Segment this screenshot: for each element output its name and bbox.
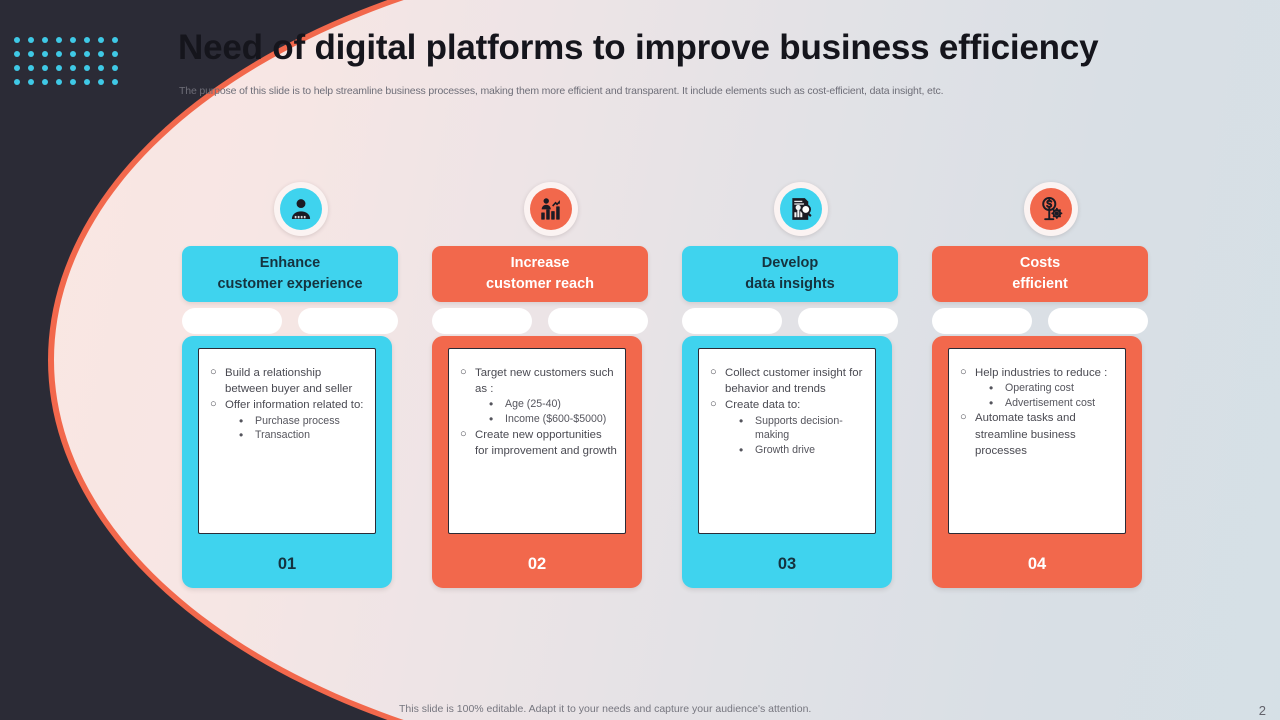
decorative-dot (70, 65, 76, 71)
bullet-item: ○Help industries to reduce :•Operating c… (957, 365, 1117, 410)
bullet-list: ○Help industries to reduce :•Operating c… (957, 365, 1117, 459)
bullet-item: ○Create data to:•Supports decision-makin… (707, 397, 867, 457)
column-02: Increasecustomer reach○Target new custom… (426, 178, 676, 598)
decorative-dot (84, 51, 90, 57)
decorative-dot (70, 37, 76, 43)
bullet-marker-level2: • (489, 411, 493, 428)
column-title-line2: efficient (1012, 274, 1068, 295)
sub-bullet-item: •Advertisement cost (987, 396, 1117, 411)
column-header-pill[interactable]: Increasecustomer reach (432, 246, 648, 302)
step-number: 02 (432, 555, 642, 574)
sub-bullet-text: Supports decision-making (755, 415, 843, 442)
decorative-dot (56, 79, 62, 85)
icon-medallion (774, 182, 828, 236)
slide-canvas: Need of digital platforms to improve bus… (0, 0, 1280, 720)
icon-medallion (524, 182, 578, 236)
decorative-dot (42, 65, 48, 71)
sub-bullet-text: Age (25-40) (505, 398, 561, 410)
decorative-dot (56, 65, 62, 71)
decorative-dot (84, 37, 90, 43)
bullet-item: ○Create new opportunities for improvemen… (457, 427, 617, 459)
bullet-marker-level2: • (739, 413, 743, 430)
column-connector (682, 302, 898, 340)
decorative-dot (56, 51, 62, 57)
bullet-marker-level1: ○ (960, 410, 967, 426)
sub-bullet-list: •Age (25-40)•Income ($600-$5000) (487, 397, 617, 426)
decorative-dot (98, 37, 104, 43)
sub-bullet-list: •Operating cost•Advertisement cost (987, 381, 1117, 410)
connector-notch-left (432, 308, 532, 334)
pointer-arrow (1012, 532, 1062, 534)
bullet-text: Help industries to reduce : (975, 367, 1107, 379)
pointer-arrow (262, 532, 312, 534)
column-01: Enhancecustomer experience○Build a relat… (176, 178, 426, 598)
decorative-dot (112, 51, 118, 57)
sub-bullet-list: •Supports decision-making•Growth drive (737, 414, 867, 458)
column-content-box: ○Target new customers such as :•Age (25-… (448, 348, 626, 534)
pointer-arrow (512, 532, 562, 534)
column-body-card[interactable]: ○Target new customers such as :•Age (25-… (432, 336, 642, 588)
decorative-dot (70, 51, 76, 57)
pointer-outline (761, 533, 813, 534)
bullet-marker-level1: ○ (710, 365, 717, 381)
bullet-text: Collect customer insight for behavior an… (725, 367, 862, 395)
page-title: Need of digital platforms to improve bus… (178, 28, 1138, 68)
decorative-dot (14, 65, 20, 71)
decorative-dot (112, 65, 118, 71)
sub-bullet-text: Growth drive (755, 444, 815, 456)
decorative-dot (112, 37, 118, 43)
connector-notch-right (798, 308, 898, 334)
sub-bullet-list: •Purchase process•Transaction (237, 414, 367, 443)
sub-bullet-text: Purchase process (255, 415, 340, 427)
column-content-box: ○Build a relationship between buyer and … (198, 348, 376, 534)
sub-bullet-item: •Growth drive (737, 443, 867, 458)
data-report-magnifier-icon (780, 188, 822, 230)
column-title-line2: data insights (745, 274, 834, 295)
column-content-box: ○Collect customer insight for behavior a… (698, 348, 876, 534)
bullet-marker-level1: ○ (210, 397, 217, 413)
sub-bullet-text: Income ($600-$5000) (505, 413, 606, 425)
column-title-line1: Costs (1020, 253, 1060, 274)
bullet-marker-level1: ○ (960, 365, 967, 381)
column-03: Developdata insights○Collect customer in… (676, 178, 926, 598)
columns-container: Enhancecustomer experience○Build a relat… (176, 178, 1176, 598)
connector-notch-right (298, 308, 398, 334)
decorative-dot (42, 37, 48, 43)
pointer-outline (261, 533, 313, 534)
column-title-line1: Increase (511, 253, 570, 274)
connector-notch-left (182, 308, 282, 334)
bullet-text: Build a relationship between buyer and s… (225, 367, 352, 395)
icon-medallion (1024, 182, 1078, 236)
bullet-marker-level1: ○ (210, 365, 217, 381)
bullet-marker-level2: • (989, 395, 993, 412)
sub-bullet-item: •Income ($600-$5000) (487, 412, 617, 427)
page-subtitle: The purpose of this slide is to help str… (179, 85, 1139, 97)
bullet-text: Automate tasks and streamline business p… (975, 412, 1076, 456)
pointer-arrow (762, 532, 812, 534)
column-header-pill[interactable]: Enhancecustomer experience (182, 246, 398, 302)
connector-notch-left (682, 308, 782, 334)
step-number: 04 (932, 555, 1142, 574)
column-title-line2: customer reach (486, 274, 594, 295)
decorative-dot (112, 79, 118, 85)
bullet-text: Create data to: (725, 399, 800, 411)
bullet-marker-level1: ○ (710, 397, 717, 413)
column-body-card[interactable]: ○Build a relationship between buyer and … (182, 336, 392, 588)
bullet-item: ○Collect customer insight for behavior a… (707, 365, 867, 397)
connector-notch-right (1048, 308, 1148, 334)
dollar-coin-gear-icon (1030, 188, 1072, 230)
connector-notch-left (932, 308, 1032, 334)
bullet-marker-level2: • (739, 442, 743, 459)
column-body-card[interactable]: ○Collect customer insight for behavior a… (682, 336, 892, 588)
bullet-marker-level1: ○ (460, 365, 467, 381)
decorative-dot (14, 79, 20, 85)
decorative-dot (84, 79, 90, 85)
decorative-dot (42, 79, 48, 85)
sub-bullet-item: •Supports decision-making (737, 414, 867, 443)
step-number: 03 (682, 555, 892, 574)
sub-bullet-text: Advertisement cost (1005, 397, 1095, 409)
sub-bullet-text: Operating cost (1005, 382, 1074, 394)
decorative-dot (28, 51, 34, 57)
bullet-list: ○Build a relationship between buyer and … (207, 365, 367, 443)
dot-grid-decoration (14, 37, 126, 93)
bullet-text: Create new opportunities for improvement… (475, 429, 617, 457)
sub-bullet-item: •Operating cost (987, 381, 1117, 396)
sub-bullet-text: Transaction (255, 429, 310, 441)
column-body-card[interactable]: ○Help industries to reduce :•Operating c… (932, 336, 1142, 588)
decorative-dot (70, 79, 76, 85)
decorative-dot (98, 79, 104, 85)
bullet-marker-level1: ○ (460, 427, 467, 443)
column-connector (932, 302, 1148, 340)
customer-avatar-icon (280, 188, 322, 230)
decorative-dot (28, 37, 34, 43)
decorative-dot (56, 37, 62, 43)
decorative-dot (98, 65, 104, 71)
decorative-dot (28, 65, 34, 71)
bullet-marker-level2: • (239, 427, 243, 444)
sub-bullet-item: •Age (25-40) (487, 397, 617, 412)
decorative-dot (84, 65, 90, 71)
bullet-item: ○Offer information related to:•Purchase … (207, 397, 367, 442)
bullet-item: ○Target new customers such as :•Age (25-… (457, 365, 617, 427)
bullet-item: ○Automate tasks and streamline business … (957, 410, 1117, 459)
column-content-box: ○Help industries to reduce :•Operating c… (948, 348, 1126, 534)
decorative-dot (28, 79, 34, 85)
decorative-dot (14, 51, 20, 57)
column-connector (432, 302, 648, 340)
icon-medallion (274, 182, 328, 236)
bullet-text: Target new customers such as : (475, 367, 614, 395)
column-04: Costsefficient○Help industries to reduce… (926, 178, 1176, 598)
step-number: 01 (182, 555, 392, 574)
bullet-item: ○Build a relationship between buyer and … (207, 365, 367, 397)
column-title-line2: customer experience (217, 274, 362, 295)
bullet-list: ○Target new customers such as :•Age (25-… (457, 365, 617, 459)
sub-bullet-item: •Purchase process (237, 414, 367, 429)
column-header-pill[interactable]: Costsefficient (932, 246, 1148, 302)
decorative-dot (98, 51, 104, 57)
page-number: 2 (1259, 703, 1266, 718)
column-header-pill[interactable]: Developdata insights (682, 246, 898, 302)
pointer-outline (511, 533, 563, 534)
column-connector (182, 302, 398, 340)
bullet-list: ○Collect customer insight for behavior a… (707, 365, 867, 457)
footer-note: This slide is 100% editable. Adapt it to… (399, 703, 811, 715)
sub-bullet-item: •Transaction (237, 428, 367, 443)
decorative-dot (42, 51, 48, 57)
bullet-text: Offer information related to: (225, 399, 363, 411)
pointer-outline (1011, 533, 1063, 534)
growth-chart-person-icon (530, 188, 572, 230)
column-title-line1: Enhance (260, 253, 320, 274)
column-title-line1: Develop (762, 253, 818, 274)
decorative-dot (14, 37, 20, 43)
connector-notch-right (548, 308, 648, 334)
